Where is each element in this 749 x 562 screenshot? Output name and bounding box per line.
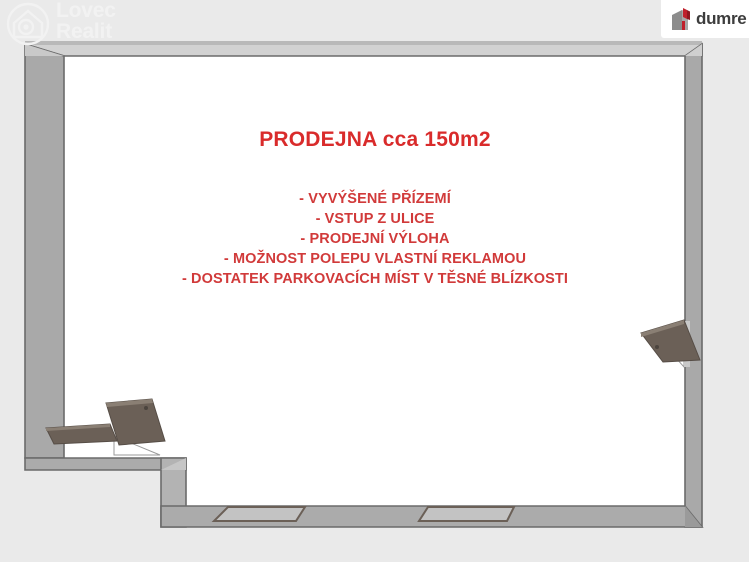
wall-top-highlight — [25, 41, 702, 45]
wall-right — [685, 44, 702, 527]
door-right-handle-icon — [655, 345, 659, 349]
door-left-handle-icon — [144, 406, 148, 410]
badge-label: dumre — [696, 9, 746, 29]
window-bottom-right — [419, 507, 514, 521]
building-icon — [670, 7, 693, 32]
window-bottom-left — [214, 507, 305, 521]
wall-left — [25, 44, 64, 458]
floorplan-drawing — [0, 0, 749, 562]
logo-badge[interactable]: dumre — [661, 0, 749, 38]
floorplan-image: PRODEJNA cca 150m2 - VYVÝŠENÉ PŘÍZEMÍ - … — [0, 0, 749, 562]
wall-top — [25, 44, 702, 56]
